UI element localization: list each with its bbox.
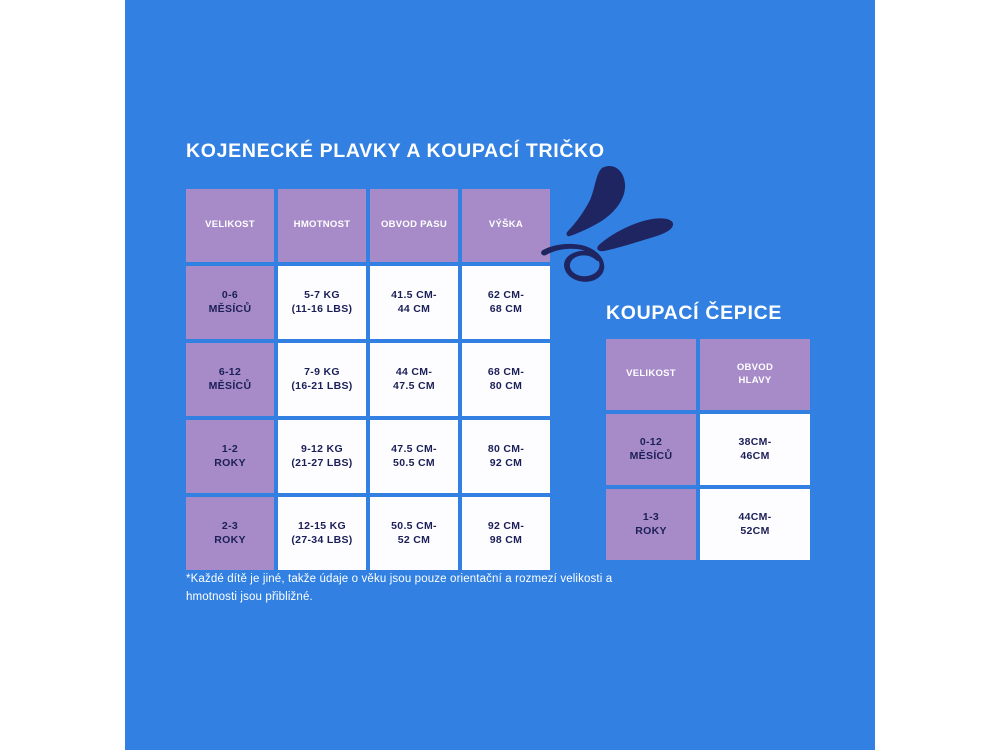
waist-line-2: 44 CM (391, 303, 437, 317)
table-row-waist-cell: 41.5 CM- 44 CM (370, 266, 458, 339)
caps-column-header-obvod-hlavy: OBVOD HLAVY (700, 339, 810, 410)
splash-teardrop-icon (567, 166, 626, 236)
caps-circ-line-2: 52CM (738, 525, 771, 539)
poster-page: KOJENECKÉ PLAVKY A KOUPACÍ TRIČKO VELIKO… (0, 0, 1000, 750)
height-line-1: 68 CM- (488, 366, 524, 380)
swim-cap-size-table: VELIKOST OBVOD HLAVY 0-12 MĚSÍCŮ 38CM- 4… (606, 339, 810, 560)
table-row-waist-cell: 50.5 CM- 52 CM (370, 497, 458, 570)
weight-line-2: (16-21 LBS) (291, 380, 352, 394)
column-header-velikost-label: VELIKOST (205, 219, 255, 231)
table-row-waist-cell: 44 CM- 47.5 CM (370, 343, 458, 416)
size-line-1: 2-3 (214, 520, 246, 534)
column-header-obvod-pasu: OBVOD PASU (370, 189, 458, 262)
paint-splash-icon (540, 160, 680, 285)
main-table-title: KOJENECKÉ PLAVKY A KOUPACÍ TRIČKO (186, 140, 605, 163)
caps-row-size-cell: 1-3 ROKY (606, 489, 696, 560)
height-line-1: 80 CM- (488, 443, 524, 457)
table-row-weight-cell: 5-7 KG (11-16 LBS) (278, 266, 366, 339)
table-row-size-cell: 1-2 ROKY (186, 420, 274, 493)
caps-circ-line-2: 46CM (738, 450, 771, 464)
size-line-2: ROKY (214, 534, 246, 548)
caps-size-line-2: MĚSÍCŮ (630, 450, 673, 464)
height-line-1: 92 CM- (488, 520, 524, 534)
swimwear-size-table: VELIKOST HMOTNOST OBVOD PASU VÝŠKA 0-6 M… (186, 189, 550, 570)
height-line-2: 68 CM (488, 303, 524, 317)
waist-line-2: 52 CM (391, 534, 437, 548)
column-header-velikost: VELIKOST (186, 189, 274, 262)
caps-circ-line-1: 38CM- (738, 436, 771, 450)
waist-line-1: 44 CM- (393, 366, 435, 380)
waist-line-2: 50.5 CM (391, 457, 437, 471)
weight-line-1: 9-12 KG (291, 443, 352, 457)
weight-line-1: 5-7 KG (292, 289, 353, 303)
splash-loop-icon (541, 244, 604, 282)
caps-row-circumference-cell: 38CM- 46CM (700, 414, 810, 485)
height-line-2: 92 CM (488, 457, 524, 471)
caps-size-line-2: ROKY (635, 525, 667, 539)
table-row-size-cell: 0-6 MĚSÍCŮ (186, 266, 274, 339)
table-row-height-cell: 62 CM- 68 CM (462, 266, 550, 339)
caps-column-header-velikost: VELIKOST (606, 339, 696, 410)
table-row-height-cell: 92 CM- 98 CM (462, 497, 550, 570)
caps-header-line-2: HLAVY (737, 375, 773, 387)
waist-line-1: 47.5 CM- (391, 443, 437, 457)
caps-column-header-velikost-label: VELIKOST (626, 368, 676, 380)
column-header-hmotnost: HMOTNOST (278, 189, 366, 262)
column-header-vyska-label: VÝŠKA (489, 219, 523, 231)
table-row-height-cell: 80 CM- 92 CM (462, 420, 550, 493)
table-row-waist-cell: 47.5 CM- 50.5 CM (370, 420, 458, 493)
size-line-1: 0-6 (209, 289, 252, 303)
weight-line-2: (21-27 LBS) (291, 457, 352, 471)
waist-line-1: 41.5 CM- (391, 289, 437, 303)
table-row-weight-cell: 12-15 KG (27-34 LBS) (278, 497, 366, 570)
caps-table-title: KOUPACÍ ČEPICE (606, 302, 782, 325)
caps-size-line-1: 0-12 (630, 436, 673, 450)
table-row-weight-cell: 7-9 KG (16-21 LBS) (278, 343, 366, 416)
weight-line-1: 7-9 KG (291, 366, 352, 380)
column-header-vyska: VÝŠKA (462, 189, 550, 262)
height-line-2: 80 CM (488, 380, 524, 394)
size-line-1: 1-2 (214, 443, 246, 457)
caps-row-circumference-cell: 44CM- 52CM (700, 489, 810, 560)
caps-header-line-1: OBVOD (737, 362, 773, 374)
height-line-1: 62 CM- (488, 289, 524, 303)
size-line-2: ROKY (214, 457, 246, 471)
table-row-weight-cell: 9-12 KG (21-27 LBS) (278, 420, 366, 493)
weight-line-2: (11-16 LBS) (292, 303, 353, 317)
table-row-height-cell: 68 CM- 80 CM (462, 343, 550, 416)
waist-line-1: 50.5 CM- (391, 520, 437, 534)
weight-line-1: 12-15 KG (291, 520, 352, 534)
table-row-size-cell: 6-12 MĚSÍCŮ (186, 343, 274, 416)
caps-circ-line-1: 44CM- (738, 511, 771, 525)
footnote-text: *Každé dítě je jiné, takže údaje o věku … (186, 571, 656, 607)
blue-canvas: KOJENECKÉ PLAVKY A KOUPACÍ TRIČKO VELIKO… (125, 0, 875, 750)
caps-row-size-cell: 0-12 MĚSÍCŮ (606, 414, 696, 485)
column-header-hmotnost-label: HMOTNOST (294, 219, 351, 231)
splash-dash-icon (597, 218, 673, 251)
caps-size-line-1: 1-3 (635, 511, 667, 525)
size-line-2: MĚSÍCŮ (209, 380, 252, 394)
size-line-1: 6-12 (209, 366, 252, 380)
weight-line-2: (27-34 LBS) (291, 534, 352, 548)
table-row-size-cell: 2-3 ROKY (186, 497, 274, 570)
size-line-2: MĚSÍCŮ (209, 303, 252, 317)
height-line-2: 98 CM (488, 534, 524, 548)
waist-line-2: 47.5 CM (393, 380, 435, 394)
column-header-obvod-pasu-label: OBVOD PASU (381, 219, 447, 231)
